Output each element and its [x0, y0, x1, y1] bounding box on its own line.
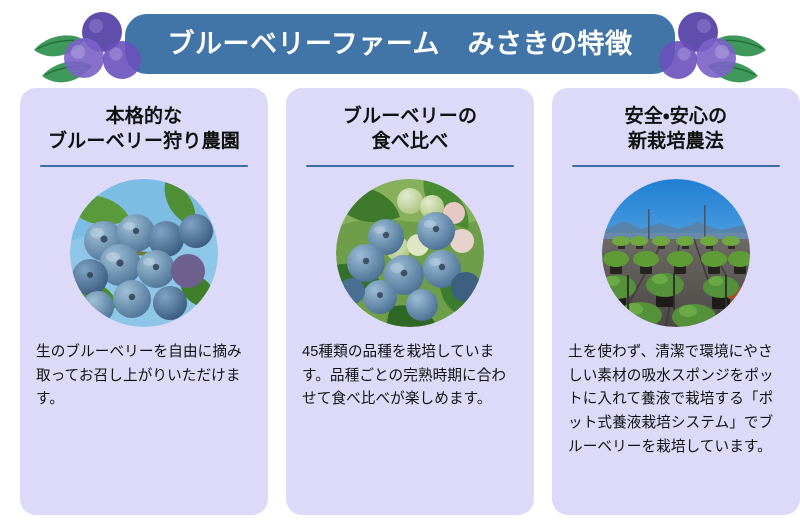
card-body-text: 土を使わず、清潔で環境にやさしい素材の吸水スポンジをポットに入れて養液で栽培する… — [568, 341, 784, 459]
berry-icon — [659, 41, 697, 79]
blueberry-leaves-decoration-left — [28, 6, 158, 88]
card-body-text: 45種類の品種を栽培しています。品種ごとの完熟時期に合わせて食べ比べが楽しめます… — [302, 341, 518, 412]
card-divider — [306, 165, 514, 167]
potted-blueberry-field-photo — [602, 179, 750, 327]
berry-icon — [64, 38, 104, 78]
berry-icon — [103, 41, 141, 79]
feature-card-1: 本格的な ブルーベリー狩り農園 — [20, 88, 268, 515]
card-heading: 安全・安心の 新栽培農法 — [568, 104, 784, 154]
card-photo-wrap — [568, 179, 784, 327]
feature-cards: 本格的な ブルーベリー狩り農園 — [0, 88, 800, 530]
blueberries-various-ripeness-photo — [336, 179, 484, 327]
page-header: ブルーベリーファーム みさきの特徴 — [0, 0, 800, 88]
card-body-text: 生のブルーベリーを自由に摘み取ってお召し上がりいただけます。 — [36, 341, 252, 412]
berry-icon — [696, 38, 736, 78]
feature-card-3: 安全・安心の 新栽培農法 — [552, 88, 800, 515]
card-divider — [572, 165, 780, 167]
header-banner: ブルーベリーファーム みさきの特徴 — [125, 14, 675, 74]
blueberry-leaves-decoration-right — [642, 6, 772, 88]
card-heading: ブルーベリーの 食べ比べ — [302, 104, 518, 154]
ripe-blueberry-cluster-photo — [70, 179, 218, 327]
card-heading: 本格的な ブルーベリー狩り農園 — [36, 104, 252, 154]
page-title: ブルーベリーファーム みさきの特徴 — [167, 31, 632, 58]
feature-card-2: ブルーベリーの 食べ比べ — [286, 88, 534, 515]
card-photo-wrap — [36, 179, 252, 327]
card-divider — [40, 165, 248, 167]
card-photo-wrap — [302, 179, 518, 327]
